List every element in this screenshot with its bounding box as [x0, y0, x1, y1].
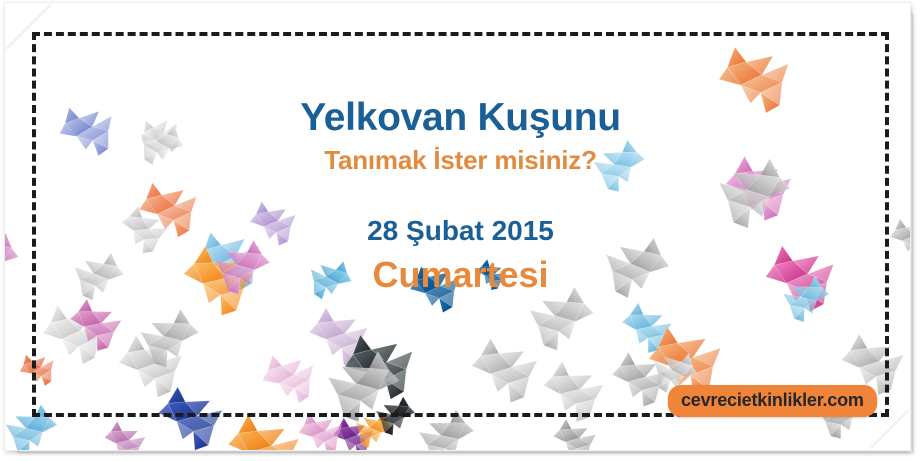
origami-birds-background	[5, 3, 911, 451]
origami-bird	[591, 137, 650, 195]
origami-bird	[5, 231, 20, 286]
origami-bird	[417, 407, 478, 451]
origami-bird	[17, 349, 59, 390]
origami-bird	[258, 349, 319, 409]
origami-bird	[528, 286, 596, 352]
origami-bird	[473, 258, 508, 293]
origami-bird	[249, 200, 296, 246]
origami-bird	[227, 414, 300, 451]
origami-bird	[297, 411, 344, 451]
origami-bird	[156, 386, 224, 451]
origami-bird	[603, 234, 671, 300]
origami-bird	[408, 263, 462, 316]
origami-bird	[55, 99, 119, 162]
poster-sheet	[4, 2, 911, 451]
poster-canvas: Yelkovan Kuşunu Tanımak İster misiniz? 2…	[0, 0, 921, 461]
origami-bird	[471, 338, 538, 404]
origami-bird	[73, 251, 124, 301]
corner-fold-bottom-right-icon	[870, 410, 910, 450]
corner-fold-top-left-icon	[5, 3, 51, 49]
website-watermark[interactable]: cevrecietkinlikler.com	[668, 385, 877, 417]
origami-bird	[552, 418, 597, 451]
origami-bird	[540, 360, 606, 424]
origami-bird	[889, 217, 911, 259]
origami-bird	[5, 403, 60, 451]
origami-bird	[306, 256, 355, 304]
origami-bird	[716, 42, 793, 118]
origami-bird	[102, 420, 146, 451]
